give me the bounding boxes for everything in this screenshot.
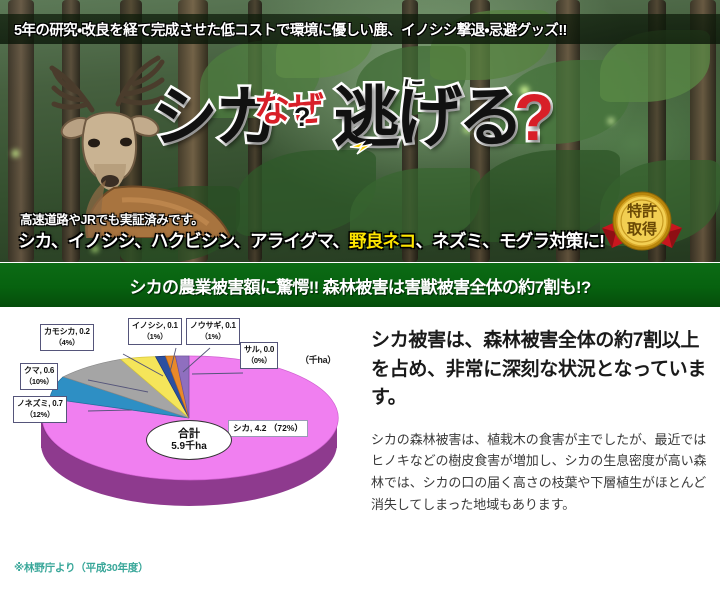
callout-inoshishi-value: イノシシ, 0.1 (132, 321, 178, 330)
slice-label-shika: シカ, 4.2 （72%） (228, 420, 308, 437)
badge-line1-text: 特許 (627, 202, 657, 220)
callout-nousagi-pct: （1%） (190, 332, 236, 342)
hero-caption-line2: シカ、イノシシ、ハクビシン、アライグマ、野良ネコ、ネズミ、モグラ対策に! (18, 228, 604, 253)
right-text-body: シカの森林被害は、植栽木の食害が主でしたが、最近ではヒノキなどの樹皮食害が増加し… (371, 429, 709, 516)
title-qmark: ? (514, 84, 550, 150)
callout-nonezumi-pct: （12%） (17, 410, 63, 420)
chart-unit-label: （千ha） (300, 353, 336, 366)
chart-source-footnote: ※林野庁より（平成30年度） (14, 560, 148, 575)
green-banner-text: シカの農業被害額に驚愕!! 森林被害は害獣被害全体の約7割も!? (129, 273, 590, 298)
callout-inoshishi-pct: （1%） (132, 332, 178, 342)
pie-center-total-label: 合計 (178, 428, 200, 441)
hero-caption-line2-b: 、ネズミ、モグラ対策に! (415, 231, 604, 251)
hero-caption-line1: 高速道路やJRでも実証済みです。 (20, 209, 203, 228)
badge-line2-text: 取得 (627, 220, 657, 238)
hero-title: シカ なぜ ? に 逃げる ? (152, 76, 572, 174)
callout-nousagi: ノウサギ, 0.1 （1%） (186, 318, 240, 345)
callout-kuma-pct: （10%） (24, 377, 54, 387)
callout-nousagi-value: ノウサギ, 0.1 (190, 321, 236, 330)
callout-kamoshika: カモシカ, 0.2 （4%） (40, 324, 94, 351)
hero-caption-line2-a: シカ、イノシシ、ハクビシン、アライグマ、 (18, 231, 349, 251)
callout-saru-pct: （0%） (244, 356, 274, 366)
title-naze-qmark: ? (294, 102, 311, 133)
lightning-bolt-icon (348, 138, 374, 156)
callout-kamoshika-value: カモシカ, 0.2 (44, 327, 90, 336)
slice-label-shika-value: シカ, 4.2 (233, 423, 267, 433)
hero-top-banner: 5年の研究・改良を経て完成させた低コストで環境に優しい鹿、イノシシ撃退・忌避グッ… (0, 14, 720, 44)
hero-top-banner-text: 5年の研究・改良を経て完成させた低コストで環境に優しい鹿、イノシシ撃退・忌避グッ… (0, 19, 567, 40)
callout-saru: サル, 0.0 （0%） (240, 342, 278, 369)
pie-center-total: 合計 5.9千ha (146, 420, 232, 460)
page-root: 5年の研究・改良を経て完成させた低コストで環境に優しい鹿、イノシシ撃退・忌避グッ… (0, 0, 720, 591)
hero-banner: 5年の研究・改良を経て完成させた低コストで環境に優しい鹿、イノシシ撃退・忌避グッ… (0, 0, 720, 262)
right-text-heading: シカ被害は、森林被害全体の約7割以上を占め、非常に深刻な状況となっています。 (371, 327, 709, 413)
callout-kuma-value: クマ, 0.6 (24, 366, 54, 375)
hero-caption-line2-highlight: 野良ネコ (349, 231, 415, 251)
slice-label-shika-pct: （72%） (269, 423, 303, 433)
title-naze: なぜ (254, 92, 322, 125)
callout-kuma: クマ, 0.6 （10%） (20, 363, 58, 390)
pie-center-total-value: 5.9千ha (171, 441, 207, 453)
callout-nonezumi-value: ノネズミ, 0.7 (17, 399, 63, 408)
callout-inoshishi: イノシシ, 0.1 （1%） (128, 318, 182, 345)
right-text-panel: シカ被害は、森林被害全体の約7割以上を占め、非常に深刻な状況となっています。 シ… (371, 327, 709, 516)
callout-nonezumi: ノネズミ, 0.7 （12%） (13, 396, 67, 423)
green-highlight-banner: シカの農業被害額に驚愕!! 森林被害は害獣被害全体の約7割も!? (0, 263, 720, 307)
callout-kamoshika-pct: （4%） (44, 338, 90, 348)
patent-badge: 特許 取得 (596, 188, 688, 258)
callout-saru-value: サル, 0.0 (244, 345, 274, 354)
